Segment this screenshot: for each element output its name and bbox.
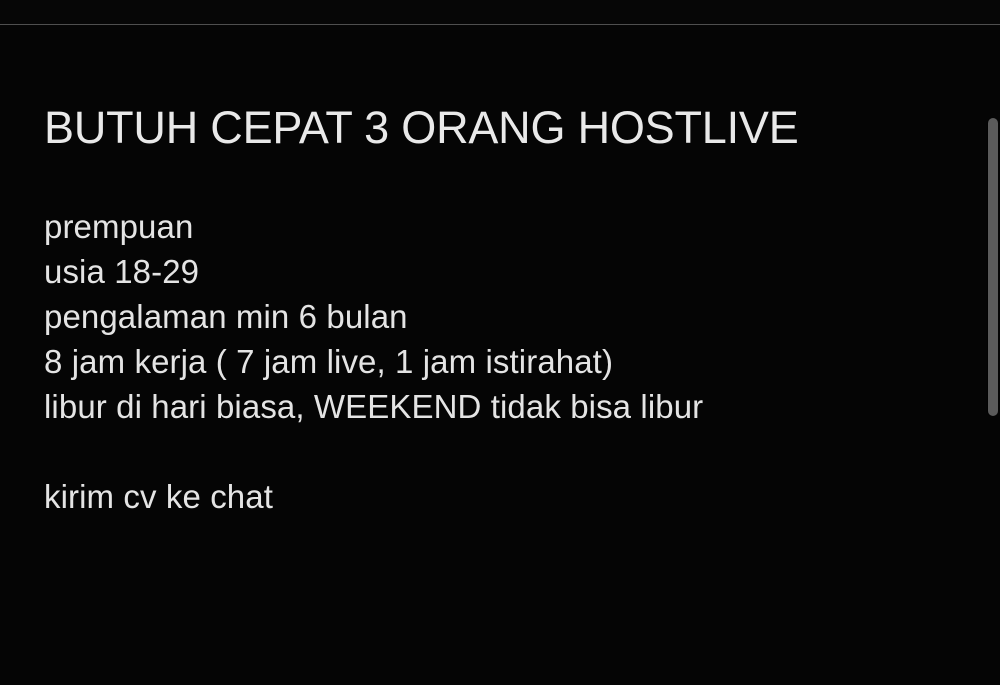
- post-line: 8 jam kerja ( 7 jam live, 1 jam istiraha…: [44, 339, 944, 384]
- post-line: usia 18-29: [44, 249, 944, 294]
- scrollbar-thumb[interactable]: [988, 118, 998, 416]
- post-line: pengalaman min 6 bulan: [44, 294, 944, 339]
- post-line: libur di hari biasa, WEEKEND tidak bisa …: [44, 384, 944, 429]
- post-title: BUTUH CEPAT 3 ORANG HOSTLIVE: [44, 103, 944, 153]
- post-body: prempuan usia 18-29 pengalaman min 6 bul…: [44, 204, 944, 519]
- post-line: prempuan: [44, 204, 944, 249]
- scrollbar-track[interactable]: [986, 25, 1000, 685]
- top-strip: [0, 0, 1000, 24]
- post-content-area: BUTUH CEPAT 3 ORANG HOSTLIVE prempuan us…: [0, 25, 1000, 685]
- post-line: kirim cv ke chat: [44, 474, 944, 519]
- post-line-blank: [44, 429, 944, 474]
- app-screen: BUTUH CEPAT 3 ORANG HOSTLIVE prempuan us…: [0, 0, 1000, 685]
- job-post: BUTUH CEPAT 3 ORANG HOSTLIVE prempuan us…: [44, 103, 944, 519]
